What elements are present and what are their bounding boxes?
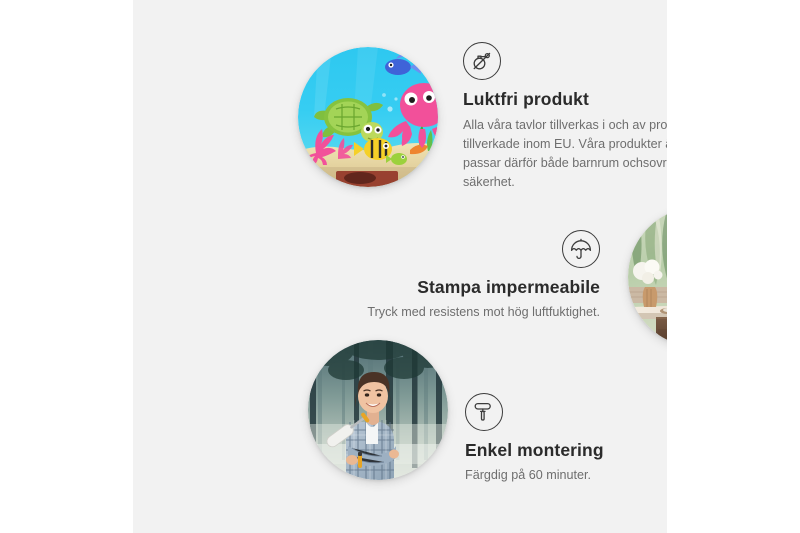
feature-odour-free: Luktfri produkt Alla våra tavlor tillver…	[463, 42, 667, 192]
feature-body: Alla våra tavlor tillverkas i och av pro…	[463, 116, 667, 193]
feature-body: Tryck med resistens mot hög luftfuktighe…	[338, 303, 600, 322]
content-panel: Luktfri produkt Alla våra tavlor tillver…	[133, 0, 667, 533]
no-odour-perfume-bottle-icon	[463, 42, 501, 80]
feature-waterproof: Stampa impermeabile Tryck med resistens …	[338, 230, 600, 322]
umbrella-icon	[562, 230, 600, 268]
painter-in-forest-photo	[308, 340, 448, 480]
feature-title: Stampa impermeabile	[338, 277, 600, 299]
bathroom-vanity-photo	[628, 207, 667, 347]
screenshot-canvas: Luktfri produkt Alla våra tavlor tillver…	[0, 0, 800, 533]
feature-easy-mounting: Enkel montering Färgdig på 60 minuter.	[465, 393, 667, 485]
underwater-cartoon-photo	[298, 47, 438, 187]
feature-body: Färgdig på 60 minuter.	[465, 466, 667, 485]
feature-title: Enkel montering	[465, 440, 667, 462]
paint-roller-icon	[465, 393, 503, 431]
feature-title: Luktfri produkt	[463, 89, 667, 111]
